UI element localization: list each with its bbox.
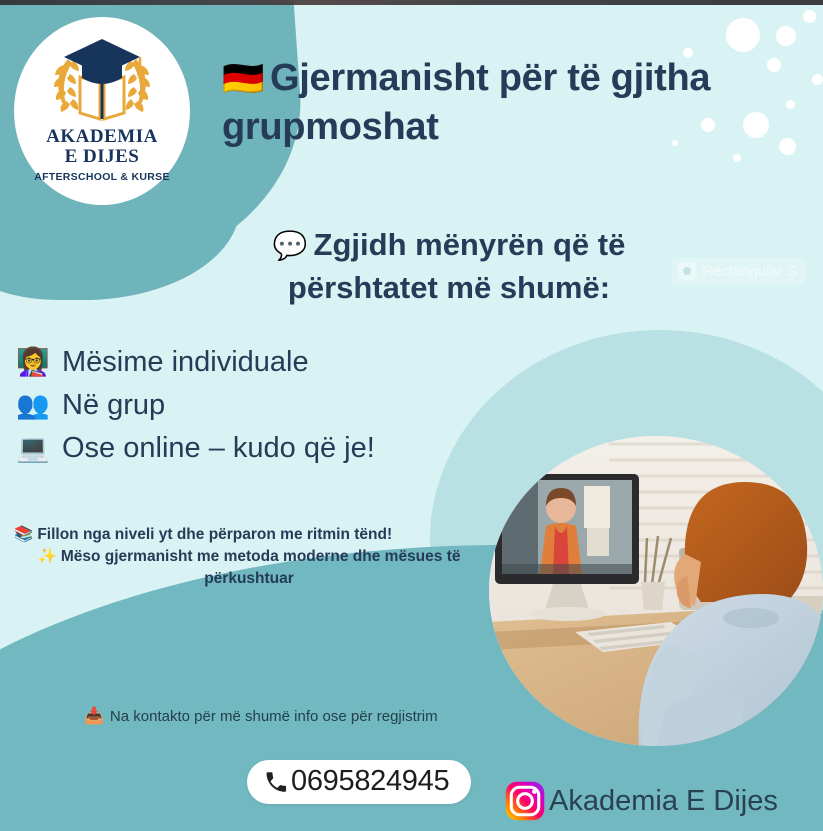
instagram-icon [503,779,547,823]
list-item-label: Ose online – kudo që je! [62,434,375,463]
logo-title-line-2: E DIJES [46,147,158,167]
rectangular-snip-tooltip[interactable]: Rectangular S [672,258,805,285]
contact-prompt-text: Na kontakto për më shumë info ose për re… [110,708,438,725]
captured-window-top-strip [0,0,823,5]
decorative-bubble [776,26,796,46]
logo-subtitle: AFTERSCHOOL & KURSE [34,171,170,183]
poster-headline: 🇩🇪Gjermanisht për të gjitha grupmoshat [222,54,817,151]
list-item-label: Në grup [62,391,165,420]
highlight-text: Fillon nga niveli yt dhe përparon me rit… [37,526,392,543]
logo-title-line-1: AKADEMIA [46,127,158,147]
brand-logo: AKADEMIA E DIJES AFTERSCHOOL & KURSE [14,17,190,205]
list-item-label: Mësime individuale [62,348,309,377]
teacher-icon: 👩‍🏫 [16,349,56,376]
highlight-item: ✨Mëso gjermanisht me metoda moderne dhe … [14,546,484,590]
inbox-tray-icon: 📥 [84,706,104,726]
group-icon: 👥 [16,392,56,419]
logo-title: AKADEMIA E DIJES [46,127,158,167]
subheadline-text: Zgjidh mënyrën që të përshtatet më shumë… [288,227,625,305]
phone-icon [263,769,289,795]
poster-subheadline: 💬Zgjidh mënyrën që të përshtatet më shum… [214,224,684,310]
decorative-bubble [803,10,816,23]
graduation-cap-book-laurel-icon [42,33,162,125]
rectangular-snip-label: Rectangular S [702,263,797,280]
list-item: 💻 Ose online – kudo që je! [16,434,375,463]
sparkles-icon: ✨ [38,548,57,565]
speech-bubble-icon: 💬 [273,230,308,261]
options-list: 👩‍🏫 Mësime individuale 👥 Në grup 💻 Ose o… [16,348,375,477]
highlights-block: 📚Fillon nga niveli yt dhe përparon me ri… [14,524,484,590]
lesson-photo [489,436,823,746]
highlight-item: 📚Fillon nga niveli yt dhe përparon me ri… [14,524,484,546]
rectangular-snip-icon [678,262,696,280]
instagram-handle[interactable]: Akademia E Dijes [503,779,778,823]
instagram-handle-text: Akademia E Dijes [549,787,778,816]
headline-text: Gjermanisht për të gjitha grupmoshat [222,57,710,148]
decorative-bubble [726,18,760,52]
highlight-text: Mëso gjermanisht me metoda moderne dhe m… [61,548,461,587]
phone-badge[interactable]: 0695824945 [247,760,471,804]
german-flag-icon: 🇩🇪 [222,60,264,98]
books-icon: 📚 [14,526,33,543]
list-item: 👥 Në grup [16,391,375,420]
contact-prompt: 📥 Na kontakto për më shumë info ose për … [84,706,438,726]
lesson-photo-illustration [489,436,823,746]
poster-canvas: AKADEMIA E DIJES AFTERSCHOOL & KURSE 🇩🇪G… [0,0,823,831]
laptop-icon: 💻 [16,435,56,462]
list-item: 👩‍🏫 Mësime individuale [16,348,375,377]
phone-number: 0695824945 [291,767,449,796]
decorative-bubble [733,154,741,162]
